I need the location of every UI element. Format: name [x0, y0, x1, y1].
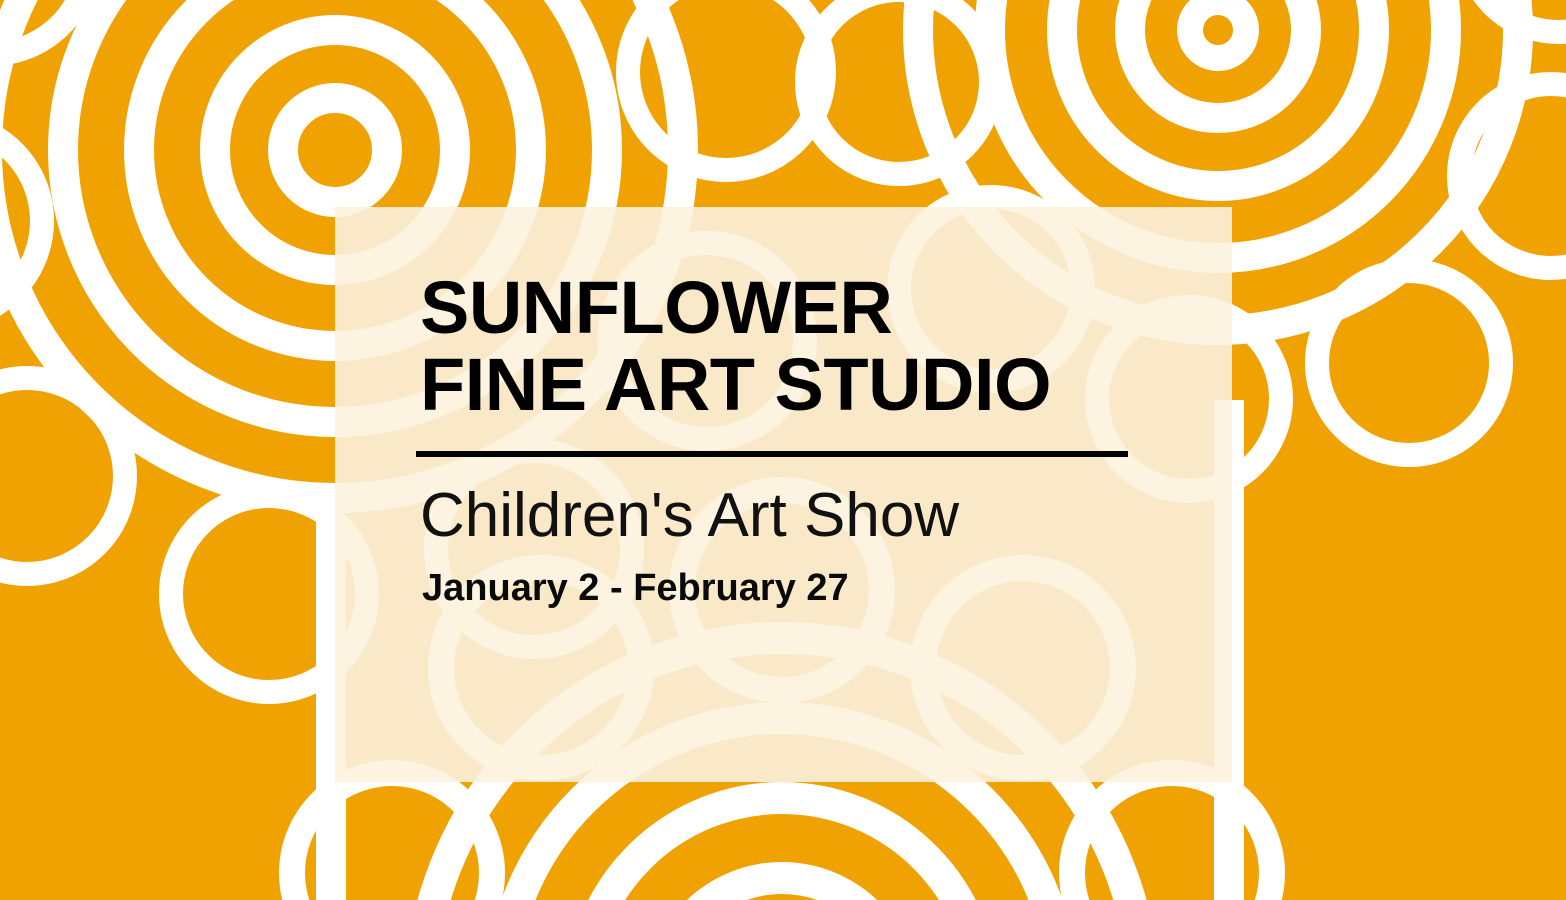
page-title-line-2: FINE ART STUDIO [420, 349, 1180, 422]
poster-date-range: January 2 - February 27 [422, 568, 1180, 610]
page-title-line-1: SUNFLOWER [420, 272, 1180, 345]
title-divider-rule [416, 451, 1128, 457]
poster-canvas: SUNFLOWER FINE ART STUDIO Children's Art… [0, 0, 1566, 900]
poster-subtitle: Children's Art Show [420, 483, 1180, 548]
poster-text-block: SUNFLOWER FINE ART STUDIO Children's Art… [420, 272, 1180, 610]
